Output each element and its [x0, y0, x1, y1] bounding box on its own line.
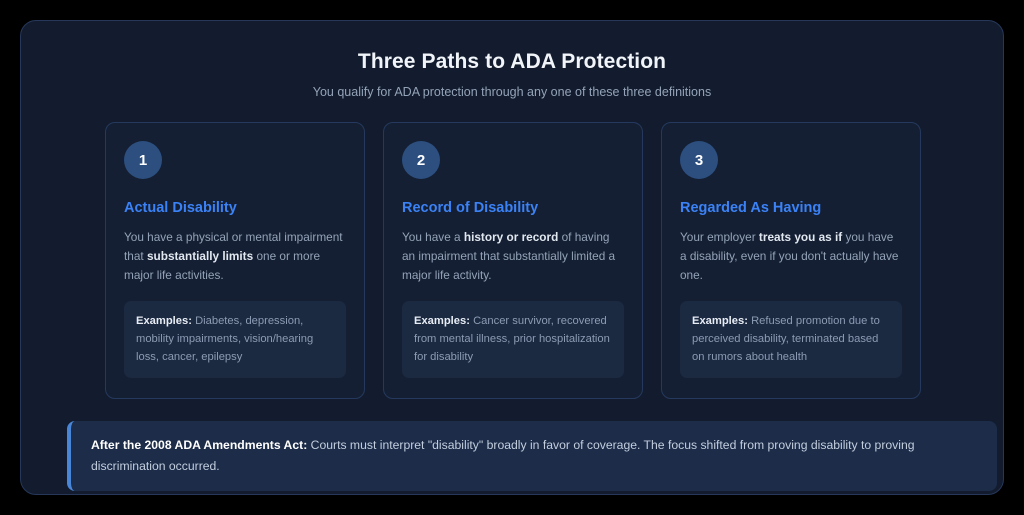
card-description-1: You have a physical or mental impairment…: [124, 228, 346, 285]
card-title-3: Regarded As Having: [680, 200, 902, 216]
card-desc-emphasis-2: history or record: [464, 230, 558, 244]
examples-label-3: Examples:: [692, 315, 748, 327]
card-description-3: Your employer treats you as if you have …: [680, 228, 902, 285]
step-badge-1: 1: [124, 141, 162, 179]
definition-cards-row: 1 Actual Disability You have a physical …: [105, 122, 921, 399]
card-desc-before-3: Your employer: [680, 230, 759, 244]
definition-card-3[interactable]: 3 Regarded As Having Your employer treat…: [661, 122, 921, 399]
banner-text: After the 2008 ADA Amendments Act: Court…: [91, 435, 977, 477]
page-title: Three Paths to ADA Protection: [21, 50, 1003, 74]
card-desc-emphasis-3: treats you as if: [759, 230, 842, 244]
examples-box-2: Examples: Cancer survivor, recovered fro…: [402, 301, 624, 378]
definition-card-1[interactable]: 1 Actual Disability You have a physical …: [105, 122, 365, 399]
definition-card-2[interactable]: 2 Record of Disability You have a histor…: [383, 122, 643, 399]
card-desc-emphasis-1: substantially limits: [147, 249, 253, 263]
banner-label: After the 2008 ADA Amendments Act:: [91, 438, 307, 452]
examples-box-3: Examples: Refused promotion due to perce…: [680, 301, 902, 378]
card-title-2: Record of Disability: [402, 200, 624, 216]
amendments-callout-banner: After the 2008 ADA Amendments Act: Court…: [67, 421, 997, 491]
card-title-1: Actual Disability: [124, 200, 346, 216]
card-desc-before-2: You have a: [402, 230, 464, 244]
page-subtitle: You qualify for ADA protection through a…: [21, 85, 1003, 99]
examples-box-1: Examples: Diabetes, depression, mobility…: [124, 301, 346, 378]
examples-label-2: Examples:: [414, 315, 470, 327]
step-badge-3: 3: [680, 141, 718, 179]
step-badge-2: 2: [402, 141, 440, 179]
examples-label-1: Examples:: [136, 315, 192, 327]
page-header: Three Paths to ADA Protection You qualif…: [21, 21, 1003, 99]
card-description-2: You have a history or record of having a…: [402, 228, 624, 285]
content-panel: Three Paths to ADA Protection You qualif…: [20, 20, 1004, 495]
